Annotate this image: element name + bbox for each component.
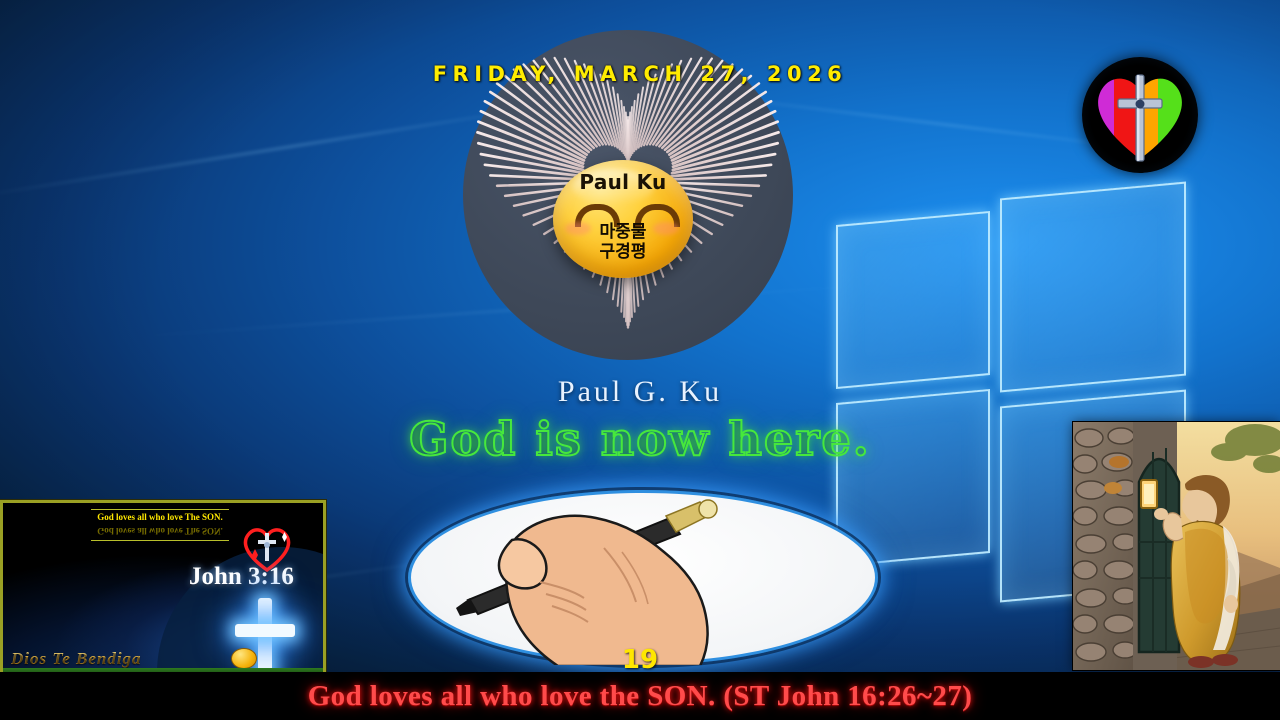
author-signature: Paul G. Ku xyxy=(0,375,1280,409)
bottom-caption-text: God loves all who love the SON. (ST John… xyxy=(308,680,973,713)
hand-shape xyxy=(499,516,708,665)
heart-ray xyxy=(673,132,778,166)
rainbow-heart-cross-logo[interactable] xyxy=(1082,57,1198,173)
john-316-thumbnail-panel[interactable]: God loves all who love The SON. God love… xyxy=(0,500,326,678)
cross-vertical-bar xyxy=(258,598,272,678)
author-name: Paul G. Ku xyxy=(558,375,722,408)
thumbnail-banner-text: God loves all who love The SON. xyxy=(91,510,229,524)
korean-line-2: 구경평 xyxy=(553,242,693,262)
thumbnail-banner-text-reflection: God loves all who love The SON. xyxy=(91,524,229,538)
bottom-caption-bar: God loves all who love the SON. (ST John… xyxy=(0,672,1280,720)
cross-horizontal-bar xyxy=(235,624,295,637)
blessing-script-text: Dios Te Bendiga xyxy=(11,649,142,669)
mini-smiley-emoji-icon xyxy=(231,648,257,669)
date-text: FRIDAY, MARCH 27, 2026 xyxy=(433,62,848,86)
thumbnail-banner: God loves all who love The SON. God love… xyxy=(91,509,229,541)
korean-line-1: 마중물 xyxy=(553,222,693,242)
writing-hand-illustration xyxy=(408,490,878,665)
date-headline: FRIDAY, MARCH 27, 2026 xyxy=(0,62,1280,86)
emoji-name-label: Paul Ku xyxy=(553,170,693,194)
verse-reference-label: John 3:16 xyxy=(189,563,294,591)
slogan-text: God is now here. xyxy=(409,412,871,466)
heart-ray xyxy=(478,132,583,166)
smiley-emoji-avatar[interactable]: video Paul Ku 마중물 구경평 xyxy=(553,160,693,278)
christ-at-the-door-picture[interactable] xyxy=(1073,422,1280,670)
emoji-korean-text: 마중물 구경평 xyxy=(553,222,693,262)
desktop-screen: video Paul Ku 마중물 구경평 FRIDAY, MARCH 27, … xyxy=(0,0,1280,720)
